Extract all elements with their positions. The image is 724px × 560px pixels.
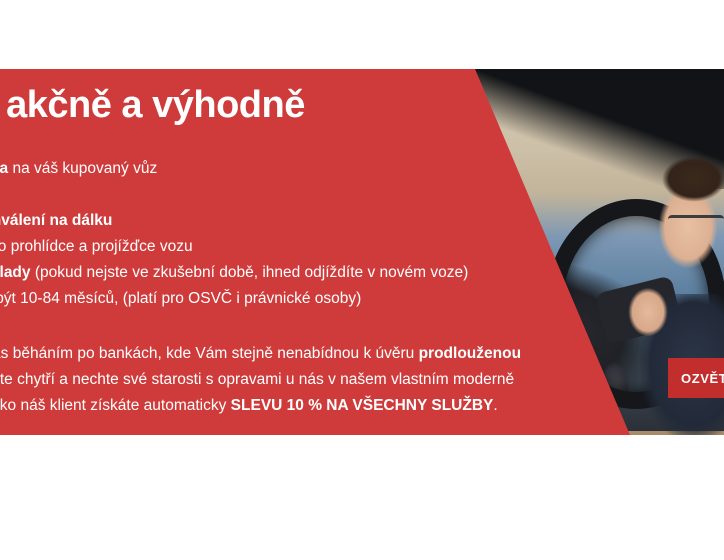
- bullet-strong: předschválení na dálku: [0, 212, 112, 229]
- paragraph-lead: ocenný čas běháním po bankách, kde Vám s…: [0, 345, 419, 362]
- paragraph-lead: vozu! Buďte chytří a nechte své starosti…: [0, 371, 514, 388]
- bullet-rest: (pokud nejste ve zkušební době, ihned od…: [31, 264, 469, 281]
- paragraph-rest: .: [493, 397, 497, 414]
- paragraph-strong: SLEVU 10 % NA VŠECHNY SLUŽBY: [231, 397, 494, 414]
- list-item: od o %: [0, 182, 628, 208]
- paragraph-strong: prodlouženou: [419, 345, 521, 362]
- list-item: ená záruka na váš kupovaný vůz: [0, 156, 628, 182]
- banner-content: átky akčně a výhodně ená záruka na váš k…: [0, 69, 620, 435]
- driver-hair: [656, 153, 724, 209]
- list-item: é předschválení na dálku: [0, 208, 628, 234]
- paragraph-line: vozu! Buďte chytří a nechte své starosti…: [0, 367, 640, 393]
- page-title: átky akčně a výhodně: [0, 86, 305, 126]
- list-item: e dva doklady (pokud nejste ve zkušební …: [0, 260, 628, 286]
- benefit-list: ená záruka na váš kupovaný vůz od o % é …: [0, 156, 628, 312]
- bullet-strong: ená záruka: [0, 160, 8, 177]
- list-item: tek může být 10-84 měsíců, (platí pro OS…: [0, 286, 628, 312]
- banner-root: átky akčně a výhodně ená záruka na váš k…: [0, 0, 724, 560]
- promo-banner: átky akčně a výhodně ená záruka na váš k…: [0, 69, 724, 435]
- paragraph-lead: isu, kde jako náš klient získáte automat…: [0, 397, 231, 414]
- paragraph-line: ocenný čas běháním po bankách, kde Vám s…: [0, 341, 640, 367]
- paragraph-line: isu, kde jako náš klient získáte automat…: [0, 393, 640, 419]
- bullet-strong: dva doklady: [0, 264, 31, 281]
- bullet-rest: na váš kupovaný vůz: [8, 160, 157, 177]
- promo-paragraph: ocenný čas běháním po bankách, kde Vám s…: [0, 341, 640, 419]
- bullet-rest: tek může být 10-84 měsíců, (platí pro OS…: [0, 290, 361, 307]
- bullet-rest: louvy až po prohlídce a projížďce vozu: [0, 238, 193, 255]
- list-item: louvy až po prohlídce a projížďce vozu: [0, 234, 628, 260]
- contact-us-button[interactable]: OZVĚTE SE NÁM: [668, 358, 724, 398]
- eyeglasses-icon: [668, 215, 724, 232]
